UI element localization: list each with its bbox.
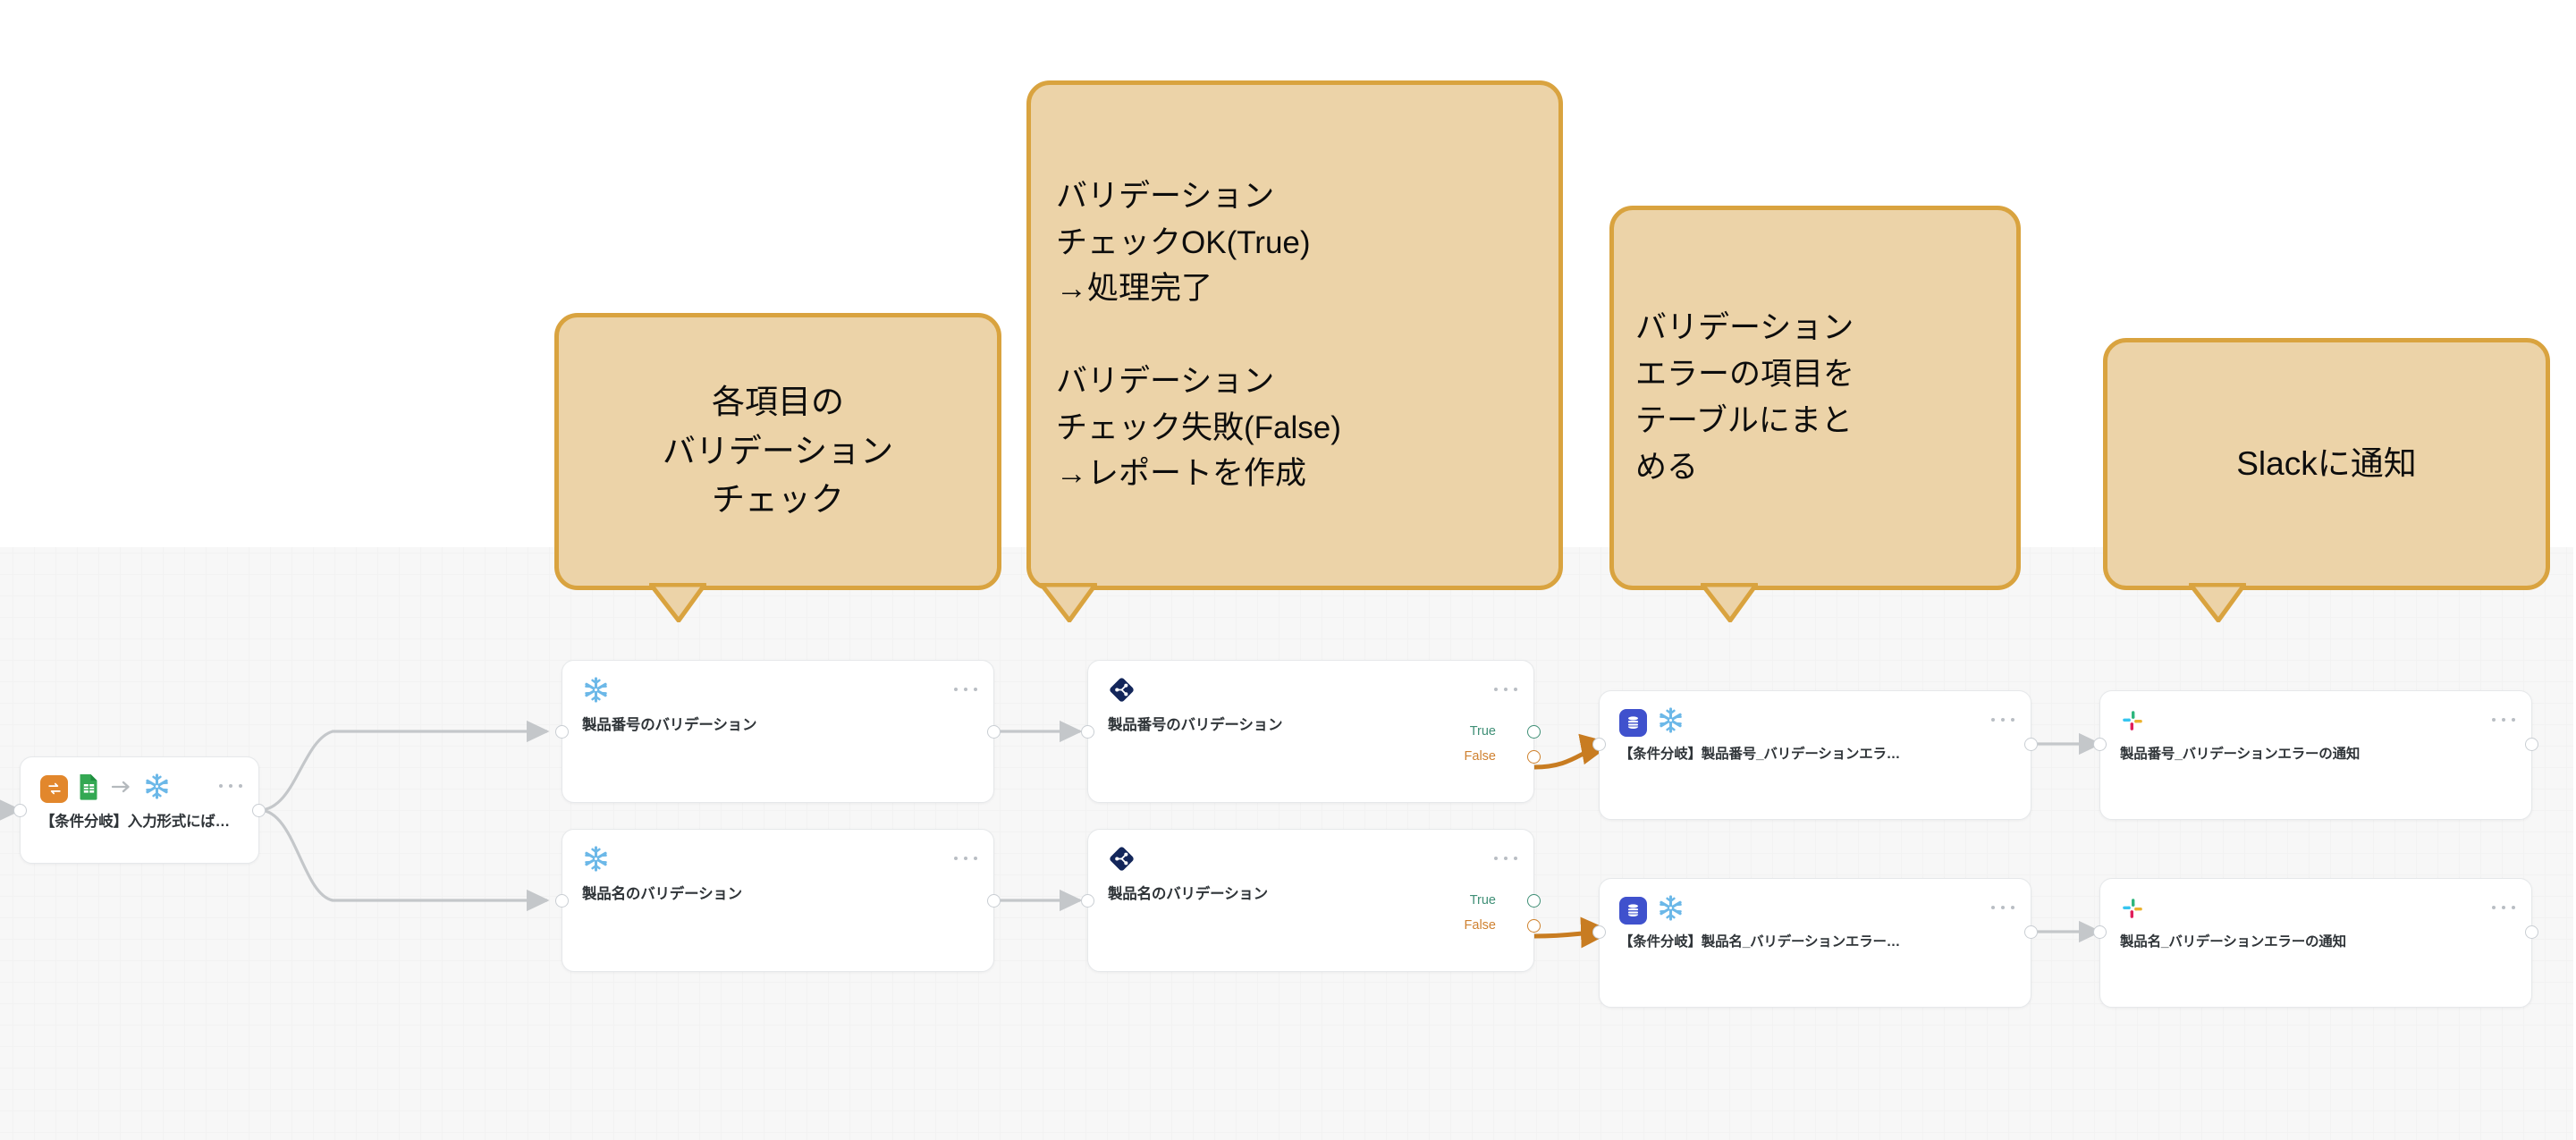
- node-validate-bottom-input-port[interactable]: [555, 894, 569, 908]
- node-table-top-output-port[interactable]: [2024, 738, 2038, 751]
- node-branch-bottom-true-label: True: [1470, 893, 1496, 908]
- node-branch-product-number[interactable]: 製品番号のバリデーション True False: [1087, 660, 1534, 803]
- branch-icon: [1108, 676, 1136, 708]
- node-validate-bottom-menu[interactable]: [954, 855, 977, 862]
- node-branch-top-true-label: True: [1470, 724, 1496, 739]
- node-branch-bottom-menu[interactable]: [1494, 855, 1517, 862]
- callout-branching-tail: [1040, 583, 1097, 622]
- node-trigger-icons: [40, 773, 171, 804]
- node-branch-bottom-title: 製品名のバリデーション: [1108, 882, 1512, 903]
- node-table-bottom-title: 【条件分岐】製品名_バリデーションエラー…: [1619, 931, 2009, 950]
- node-slack-bottom-input-port[interactable]: [2093, 925, 2107, 939]
- callout-validation: 各項目の バリデーション チェック: [554, 313, 1001, 590]
- node-slack-top-menu[interactable]: [2492, 716, 2515, 723]
- node-slack-bottom-menu[interactable]: [2492, 904, 2515, 911]
- callout-table: バリデーション エラーの項目を テーブルにまと める: [1609, 206, 2021, 590]
- node-table-top-title: 【条件分岐】製品番号_バリデーションエラ…: [1619, 743, 2009, 763]
- node-branch-top-true-port[interactable]: [1527, 725, 1541, 739]
- node-validate-bottom-icons: [582, 846, 610, 876]
- callout-slack-tail: [2189, 583, 2246, 622]
- node-validate-product-number[interactable]: 製品番号のバリデーション: [562, 660, 994, 803]
- node-trigger[interactable]: 【条件分岐】入力形式にばらつきのあるデ…: [20, 756, 259, 864]
- callout-slack-text: Slackに通知: [2220, 440, 2432, 489]
- sync-icon: [40, 775, 68, 803]
- node-branch-top-icons: [1108, 677, 1136, 707]
- database-icon: [1619, 709, 1647, 737]
- node-table-product-name[interactable]: 【条件分岐】製品名_バリデーションエラー…: [1599, 878, 2031, 1008]
- node-trigger-input-port[interactable]: [13, 804, 27, 817]
- node-table-product-number[interactable]: 【条件分岐】製品番号_バリデーションエラ…: [1599, 690, 2031, 820]
- node-slack-bottom-icons: [2120, 895, 2145, 925]
- node-branch-bottom-false-label: False: [1465, 918, 1496, 933]
- node-branch-top-false-label: False: [1465, 749, 1496, 764]
- callout-branching: バリデーション チェックOK(True) →処理完了 バリデーション チェック失…: [1026, 80, 1563, 590]
- node-branch-top-false-port[interactable]: [1527, 750, 1541, 764]
- workflow-screenshot: 【条件分岐】入力形式にばらつきのあるデ…: [0, 0, 2576, 1140]
- node-table-top-input-port[interactable]: [1592, 738, 1606, 751]
- callout-validation-tail: [649, 583, 706, 622]
- snowflake-icon: [143, 773, 171, 805]
- slack-icon: [2120, 896, 2145, 925]
- google-sheets-icon: [78, 773, 100, 805]
- node-branch-bottom-input-port[interactable]: [1081, 894, 1094, 908]
- node-slack-top-icons: [2120, 707, 2145, 738]
- snowflake-icon: [582, 676, 610, 708]
- node-slack-top-input-port[interactable]: [2093, 738, 2107, 751]
- node-trigger-menu[interactable]: [219, 782, 242, 790]
- node-branch-top-input-port[interactable]: [1081, 725, 1094, 739]
- node-slack-product-number[interactable]: 製品番号_バリデーションエラーの通知: [2099, 690, 2532, 820]
- callout-validation-text: 各項目の バリデーション チェック: [646, 378, 909, 525]
- node-validate-bottom-output-port[interactable]: [987, 894, 1001, 908]
- node-table-top-menu[interactable]: [1991, 716, 2014, 723]
- node-branch-bottom-false-port[interactable]: [1527, 919, 1541, 933]
- snowflake-icon: [582, 845, 610, 877]
- node-slack-bottom-output-port[interactable]: [2525, 925, 2538, 939]
- node-branch-product-name[interactable]: 製品名のバリデーション True False: [1087, 829, 1534, 972]
- node-branch-top-title: 製品番号のバリデーション: [1108, 713, 1512, 734]
- node-branch-bottom-true-port[interactable]: [1527, 894, 1541, 908]
- database-icon: [1619, 897, 1647, 925]
- node-validate-bottom-title: 製品名のバリデーション: [582, 882, 972, 903]
- node-table-bottom-input-port[interactable]: [1592, 925, 1606, 939]
- node-validate-top-input-port[interactable]: [555, 725, 569, 739]
- node-validate-top-output-port[interactable]: [987, 725, 1001, 739]
- node-validate-top-title: 製品番号のバリデーション: [582, 713, 972, 734]
- arrow-right-icon: [110, 779, 133, 799]
- node-slack-bottom-title: 製品名_バリデーションエラーの通知: [2120, 931, 2510, 950]
- branch-icon: [1108, 845, 1136, 877]
- node-branch-top-menu[interactable]: [1494, 686, 1517, 693]
- node-trigger-output-port[interactable]: [252, 804, 266, 817]
- node-slack-top-output-port[interactable]: [2525, 738, 2538, 751]
- node-validate-top-menu[interactable]: [954, 686, 977, 693]
- node-branch-bottom-icons: [1108, 846, 1136, 876]
- snowflake-icon: [1657, 894, 1685, 926]
- node-slack-product-name[interactable]: 製品名_バリデーションエラーの通知: [2099, 878, 2532, 1008]
- snowflake-icon: [1657, 706, 1685, 739]
- node-trigger-title: 【条件分岐】入力形式にばらつきのあるデ…: [40, 809, 237, 831]
- callout-table-text: バリデーション エラーの項目を テーブルにまと める: [1614, 305, 2016, 490]
- callout-table-tail: [1701, 583, 1758, 622]
- slack-icon: [2120, 708, 2145, 738]
- node-table-bottom-menu[interactable]: [1991, 904, 2014, 911]
- callout-slack: Slackに通知: [2103, 338, 2550, 590]
- node-table-top-icons: [1619, 707, 1685, 738]
- node-slack-top-title: 製品番号_バリデーションエラーの通知: [2120, 743, 2510, 763]
- node-validate-product-name[interactable]: 製品名のバリデーション: [562, 829, 994, 972]
- node-validate-top-icons: [582, 677, 610, 707]
- node-table-bottom-output-port[interactable]: [2024, 925, 2038, 939]
- node-table-bottom-icons: [1619, 895, 1685, 925]
- callout-branching-text: バリデーション チェックOK(True) →処理完了 バリデーション チェック失…: [1031, 173, 1558, 498]
